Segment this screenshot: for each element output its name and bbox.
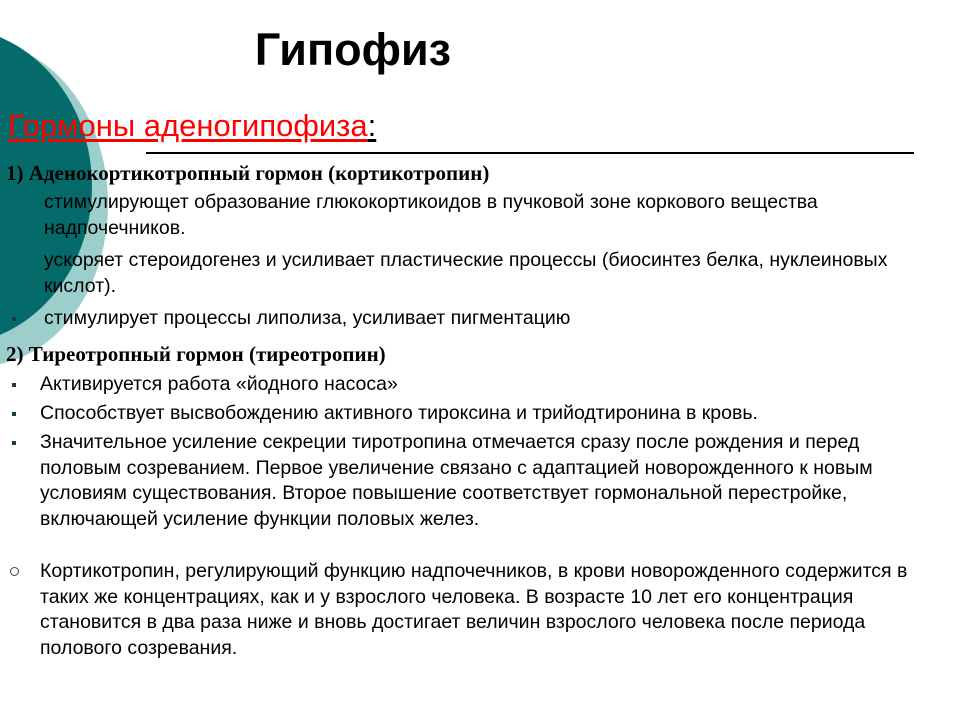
section-heading-label: Гормоны аденогипофиза — [8, 108, 368, 143]
bullet-dot-icon — [12, 412, 16, 416]
list-item: стимулирующет образование глюкокортикоид… — [44, 190, 920, 241]
section-heading-hormones: Гормоны аденогипофиза: — [8, 108, 376, 144]
page-title: Гипофиз — [0, 24, 706, 76]
horizontal-divider — [146, 152, 914, 154]
numbered-heading-2: 2) Тиреотропный гормон (тиреотропин) — [6, 341, 386, 367]
presentation-slide: Гипофиз Гормоны аденогипофиза: 1) Аденок… — [0, 0, 960, 720]
section-heading-colon: : — [368, 108, 377, 143]
list-item: ускоряет стероидогенез и усиливает пласт… — [44, 248, 920, 299]
list-item: Способствует высвобождению активного тир… — [40, 401, 938, 427]
bullet-dot-icon — [12, 383, 16, 387]
bullet-dot-icon — [12, 317, 16, 321]
list-item: Кортикотропин, регулирующий функцию надп… — [40, 559, 910, 661]
list-item: стимулирует процессы липолиза, усиливает… — [44, 306, 920, 332]
numbered-heading-1: 1) Аденокортикотропный гормон (кортикотр… — [6, 160, 489, 186]
list-item: Активируется работа «йодного насоса» — [40, 372, 930, 398]
bullet-ring-icon — [10, 567, 19, 576]
slide-content: Гипофиз Гормоны аденогипофиза: 1) Аденок… — [0, 0, 960, 720]
list-item: Значительное усиление секреции тиротропи… — [40, 430, 910, 532]
bullet-dot-icon — [12, 441, 16, 445]
